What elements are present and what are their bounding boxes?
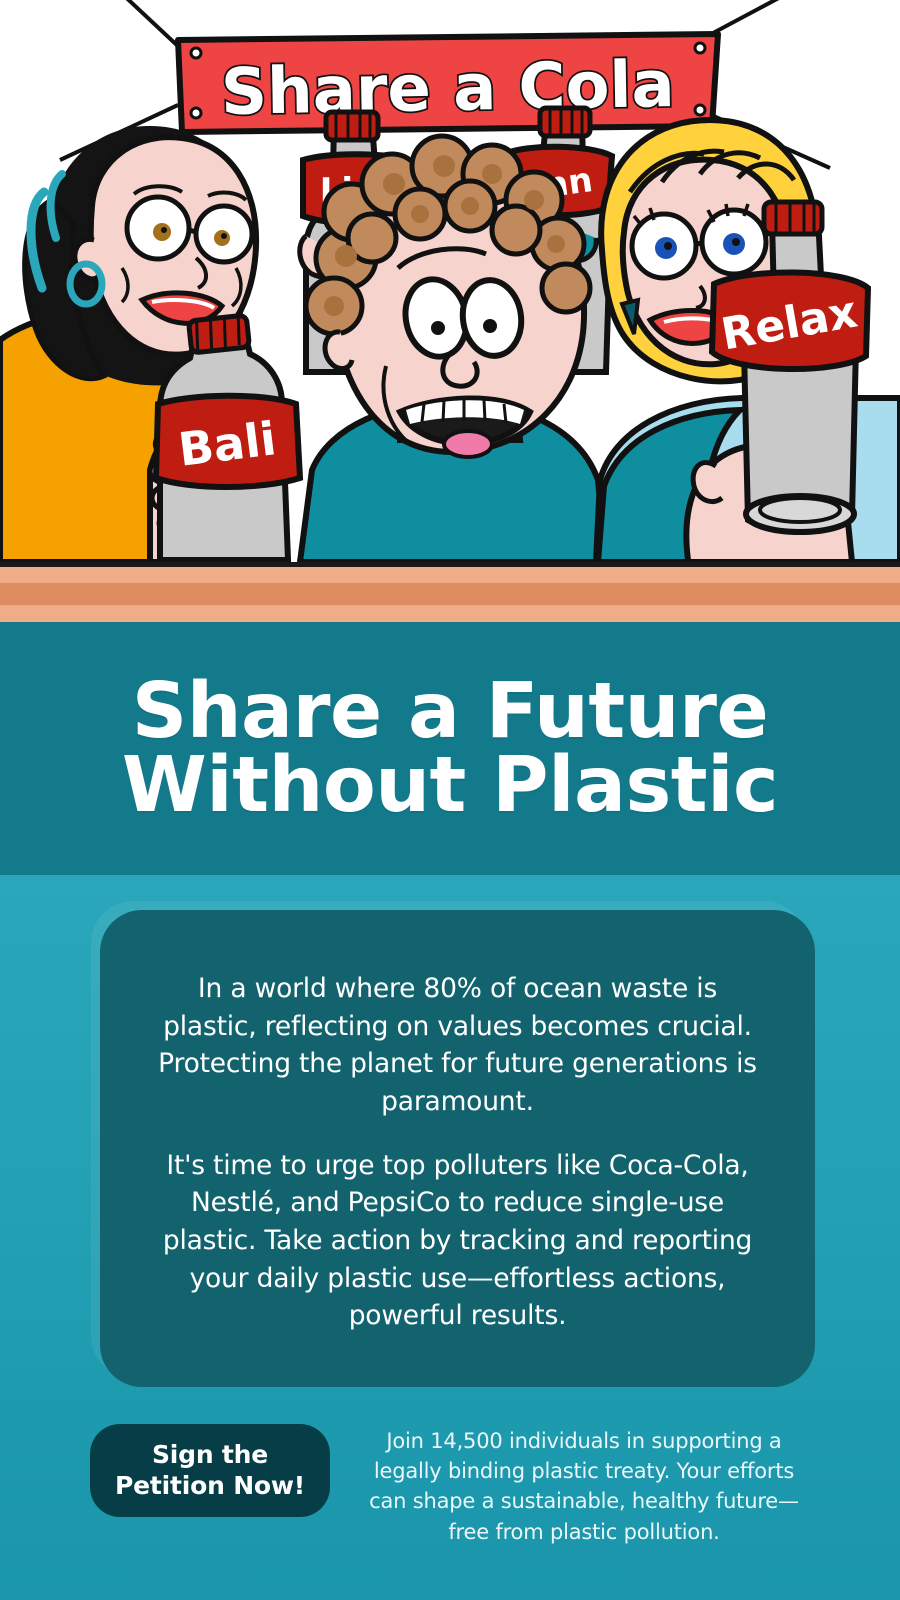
body-paragraph-2: It's time to urge top polluters like Coc… — [148, 1147, 767, 1335]
hero-illustration: Share a Cola — [0, 0, 900, 562]
body-copy-card: In a world where 80% of ocean waste is p… — [100, 910, 815, 1387]
cta-supporting-note: Join 14,500 individuals in supporting a … — [364, 1424, 804, 1547]
share-a-cola-banner: Share a Cola — [178, 34, 718, 132]
cta-button-line-2: Petition Now! — [115, 1471, 305, 1502]
page-title: Share a Future Without Plastic — [82, 675, 818, 823]
shelf-band-light-top — [0, 567, 900, 583]
body-paragraph-1: In a world where 80% of ocean waste is p… — [148, 970, 767, 1121]
shelf-band-light-bottom — [0, 605, 900, 622]
shelf-band-dark — [0, 583, 900, 605]
headline-band: Share a Future Without Plastic — [0, 622, 900, 875]
svg-text:Share a Cola: Share a Cola — [220, 48, 675, 130]
poster-page: Share a Cola — [0, 0, 900, 1600]
headline-line-2: Without Plastic — [122, 749, 778, 823]
cta-row: Sign the Petition Now! Join 14,500 indiv… — [0, 1424, 900, 1547]
cta-button-line-1: Sign the — [152, 1440, 268, 1469]
character-center — [300, 136, 606, 562]
sign-petition-button[interactable]: Sign the Petition Now! — [90, 1424, 330, 1517]
